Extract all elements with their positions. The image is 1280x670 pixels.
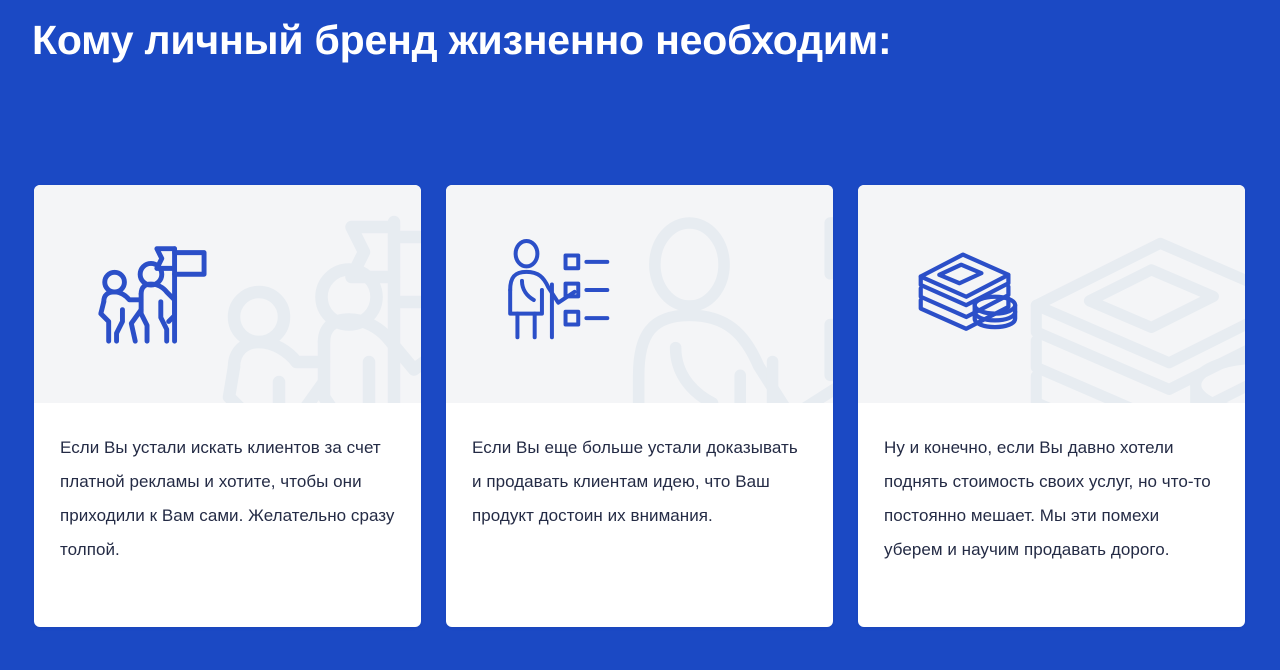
page-title: Кому личный бренд жизненно необходим: [32, 14, 892, 66]
card-body-2: Если Вы еще больше устали доказывать и п… [446, 403, 833, 627]
money-stack-coins-watermark-icon [1023, 199, 1245, 403]
card-body-1: Если Вы устали искать клиентов за счет п… [34, 403, 421, 627]
benefit-card-1[interactable]: Если Вы устали искать клиентов за счет п… [34, 185, 421, 627]
benefit-card-2[interactable]: Если Вы еще больше устали доказывать и п… [446, 185, 833, 627]
card-text-1: Если Вы устали искать клиентов за счет п… [60, 431, 395, 567]
card-media-1 [34, 185, 421, 403]
benefit-cards-row: Если Вы устали искать клиентов за счет п… [34, 185, 1246, 627]
card-body-3: Ну и конечно, если Вы давно хотели подня… [858, 403, 1245, 627]
card-text-3: Ну и конечно, если Вы давно хотели подня… [884, 431, 1219, 567]
benefit-card-3[interactable]: Ну и конечно, если Вы давно хотели подня… [858, 185, 1245, 627]
money-stack-coins-icon [914, 231, 1032, 349]
team-climbing-flag-icon [90, 231, 208, 349]
card-text-2: Если Вы еще больше устали доказывать и п… [472, 431, 807, 533]
presenter-checklist-icon [502, 231, 620, 349]
team-climbing-flag-watermark-icon [214, 187, 421, 403]
presenter-checklist-watermark-icon [611, 193, 833, 403]
card-media-2 [446, 185, 833, 403]
card-media-3 [858, 185, 1245, 403]
